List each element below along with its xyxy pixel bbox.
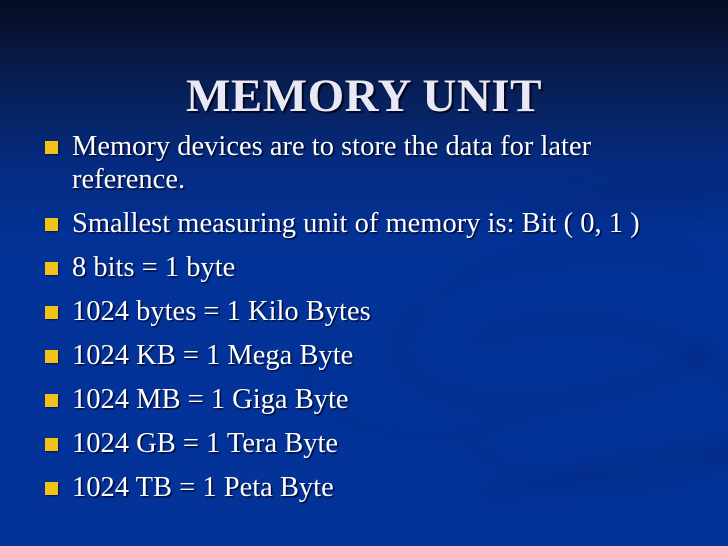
list-item-label: 1024 TB = 1 Peta Byte xyxy=(72,471,692,504)
list-item: 1024 bytes = 1 Kilo Bytes xyxy=(40,295,692,328)
list-item-label: Smallest measuring unit of memory is: Bi… xyxy=(72,207,692,240)
list-item-label: 1024 GB = 1 Tera Byte xyxy=(72,427,692,460)
square-bullet-icon xyxy=(45,482,58,495)
square-bullet-icon xyxy=(45,262,58,275)
slide-content: MEMORY UNIT Memory devices are to store … xyxy=(0,0,728,546)
square-bullet-icon xyxy=(45,394,58,407)
square-bullet-icon xyxy=(45,438,58,451)
list-item: Memory devices are to store the data for… xyxy=(40,130,692,196)
list-item-label: Memory devices are to store the data for… xyxy=(72,130,692,196)
bullet-list: Memory devices are to store the data for… xyxy=(40,130,692,506)
list-item-label: 1024 MB = 1 Giga Byte xyxy=(72,383,692,416)
list-item: 8 bits = 1 byte xyxy=(40,251,692,284)
list-item: Smallest measuring unit of memory is: Bi… xyxy=(40,207,692,240)
list-item: 1024 TB = 1 Peta Byte xyxy=(40,471,692,504)
list-item-label: 1024 bytes = 1 Kilo Bytes xyxy=(72,295,692,328)
list-item: 1024 KB = 1 Mega Byte xyxy=(40,339,692,372)
list-item: 1024 MB = 1 Giga Byte xyxy=(40,383,692,416)
square-bullet-icon xyxy=(45,306,58,319)
list-item: 1024 GB = 1 Tera Byte xyxy=(40,427,692,460)
slide-title: MEMORY UNIT xyxy=(0,73,728,120)
square-bullet-icon xyxy=(45,218,58,231)
list-item-label: 8 bits = 1 byte xyxy=(72,251,692,284)
presentation-slide: MEMORY UNIT Memory devices are to store … xyxy=(0,0,728,546)
square-bullet-icon xyxy=(45,141,58,154)
square-bullet-icon xyxy=(45,350,58,363)
list-item-label: 1024 KB = 1 Mega Byte xyxy=(72,339,692,372)
